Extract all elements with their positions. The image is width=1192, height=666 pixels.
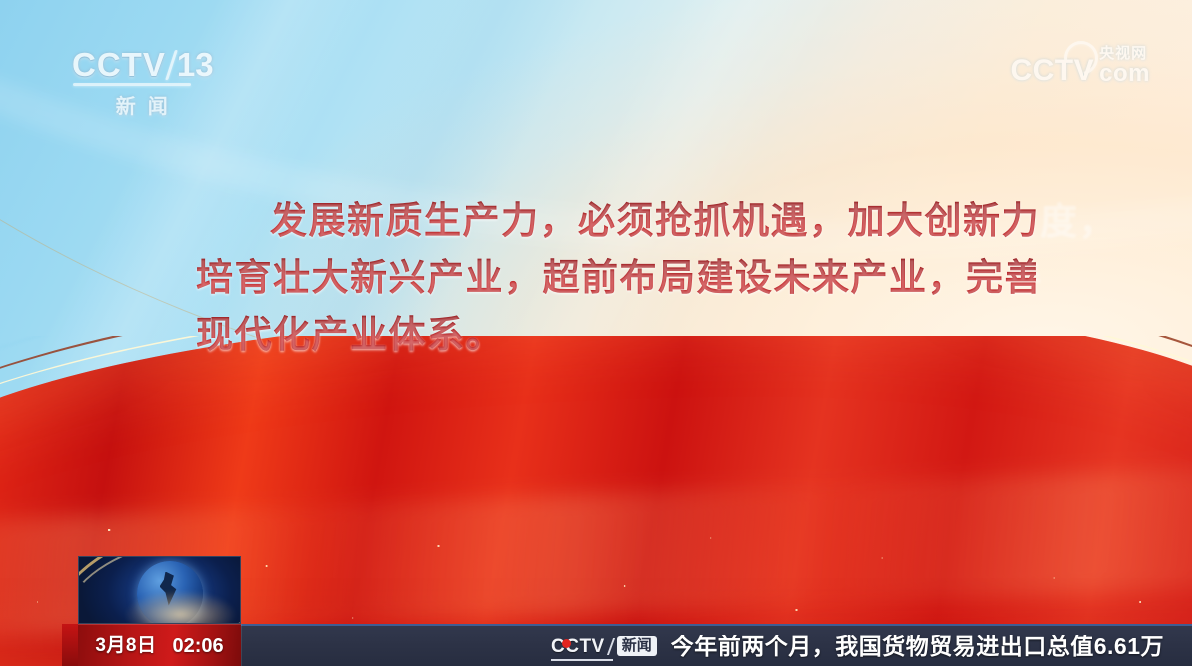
- channel-network-label: CCTV: [72, 48, 166, 81]
- current-time: 02:06: [172, 636, 223, 656]
- headline-line-3: 现代化产业体系。: [196, 306, 1036, 363]
- channel-category-label: 新闻: [72, 90, 214, 119]
- ticker-badge-category-label: 新闻: [617, 636, 657, 656]
- channel-logo-cctv13: CCTV 13 新闻: [72, 48, 214, 119]
- ticker-divider-rule: [241, 624, 242, 666]
- channel-number-label: 13: [177, 48, 214, 81]
- pip-thumbnail[interactable]: [78, 556, 241, 624]
- ticker-headline-text: 今年前两个月，我国货物贸易进出口总值6.61万: [671, 635, 1192, 658]
- broadcast-frame: CCTV 13 新闻 CCTV 央视网 com 发展新质生产力，必须抢抓机遇，加…: [0, 0, 1192, 666]
- headline-line-2: 培育壮大新兴产业，超前布局建设未来产业，完善: [196, 249, 1036, 306]
- ticker-badge-red-dot-icon: [562, 639, 571, 648]
- headline-line-1: 发展新质生产力，必须抢抓机遇，加大创新力度，: [196, 192, 1036, 249]
- headline-quote-block: 发展新质生产力，必须抢抓机遇，加大创新力度， 培育壮大新兴产业，超前布局建设未来…: [196, 192, 1036, 363]
- current-date: 3月8日: [95, 636, 156, 655]
- ticker-badge-slash-icon: [607, 638, 615, 655]
- datetime-block: 3月8日 02:06: [78, 624, 241, 666]
- cctv-com-watermark: CCTV 央视网 com: [1010, 46, 1150, 86]
- pip-light-glow: [124, 590, 237, 624]
- ticker-badge-network-label: CCTV: [551, 637, 605, 656]
- datetime-left-accent: [62, 624, 78, 666]
- news-ticker-bar: CCTV 新闻 今年前两个月，我国货物贸易进出口总值6.61万: [241, 624, 1192, 666]
- pip-background: [79, 557, 240, 623]
- watermark-domain-label: com: [1099, 62, 1150, 86]
- ticker-cctv-news-badge: CCTV 新闻: [551, 636, 657, 656]
- ticker-badge-underline: [551, 659, 613, 661]
- watermark-site-label: 央视网: [1099, 46, 1147, 61]
- channel-slash-icon: [165, 50, 178, 80]
- channel-underline-rule: [73, 83, 191, 86]
